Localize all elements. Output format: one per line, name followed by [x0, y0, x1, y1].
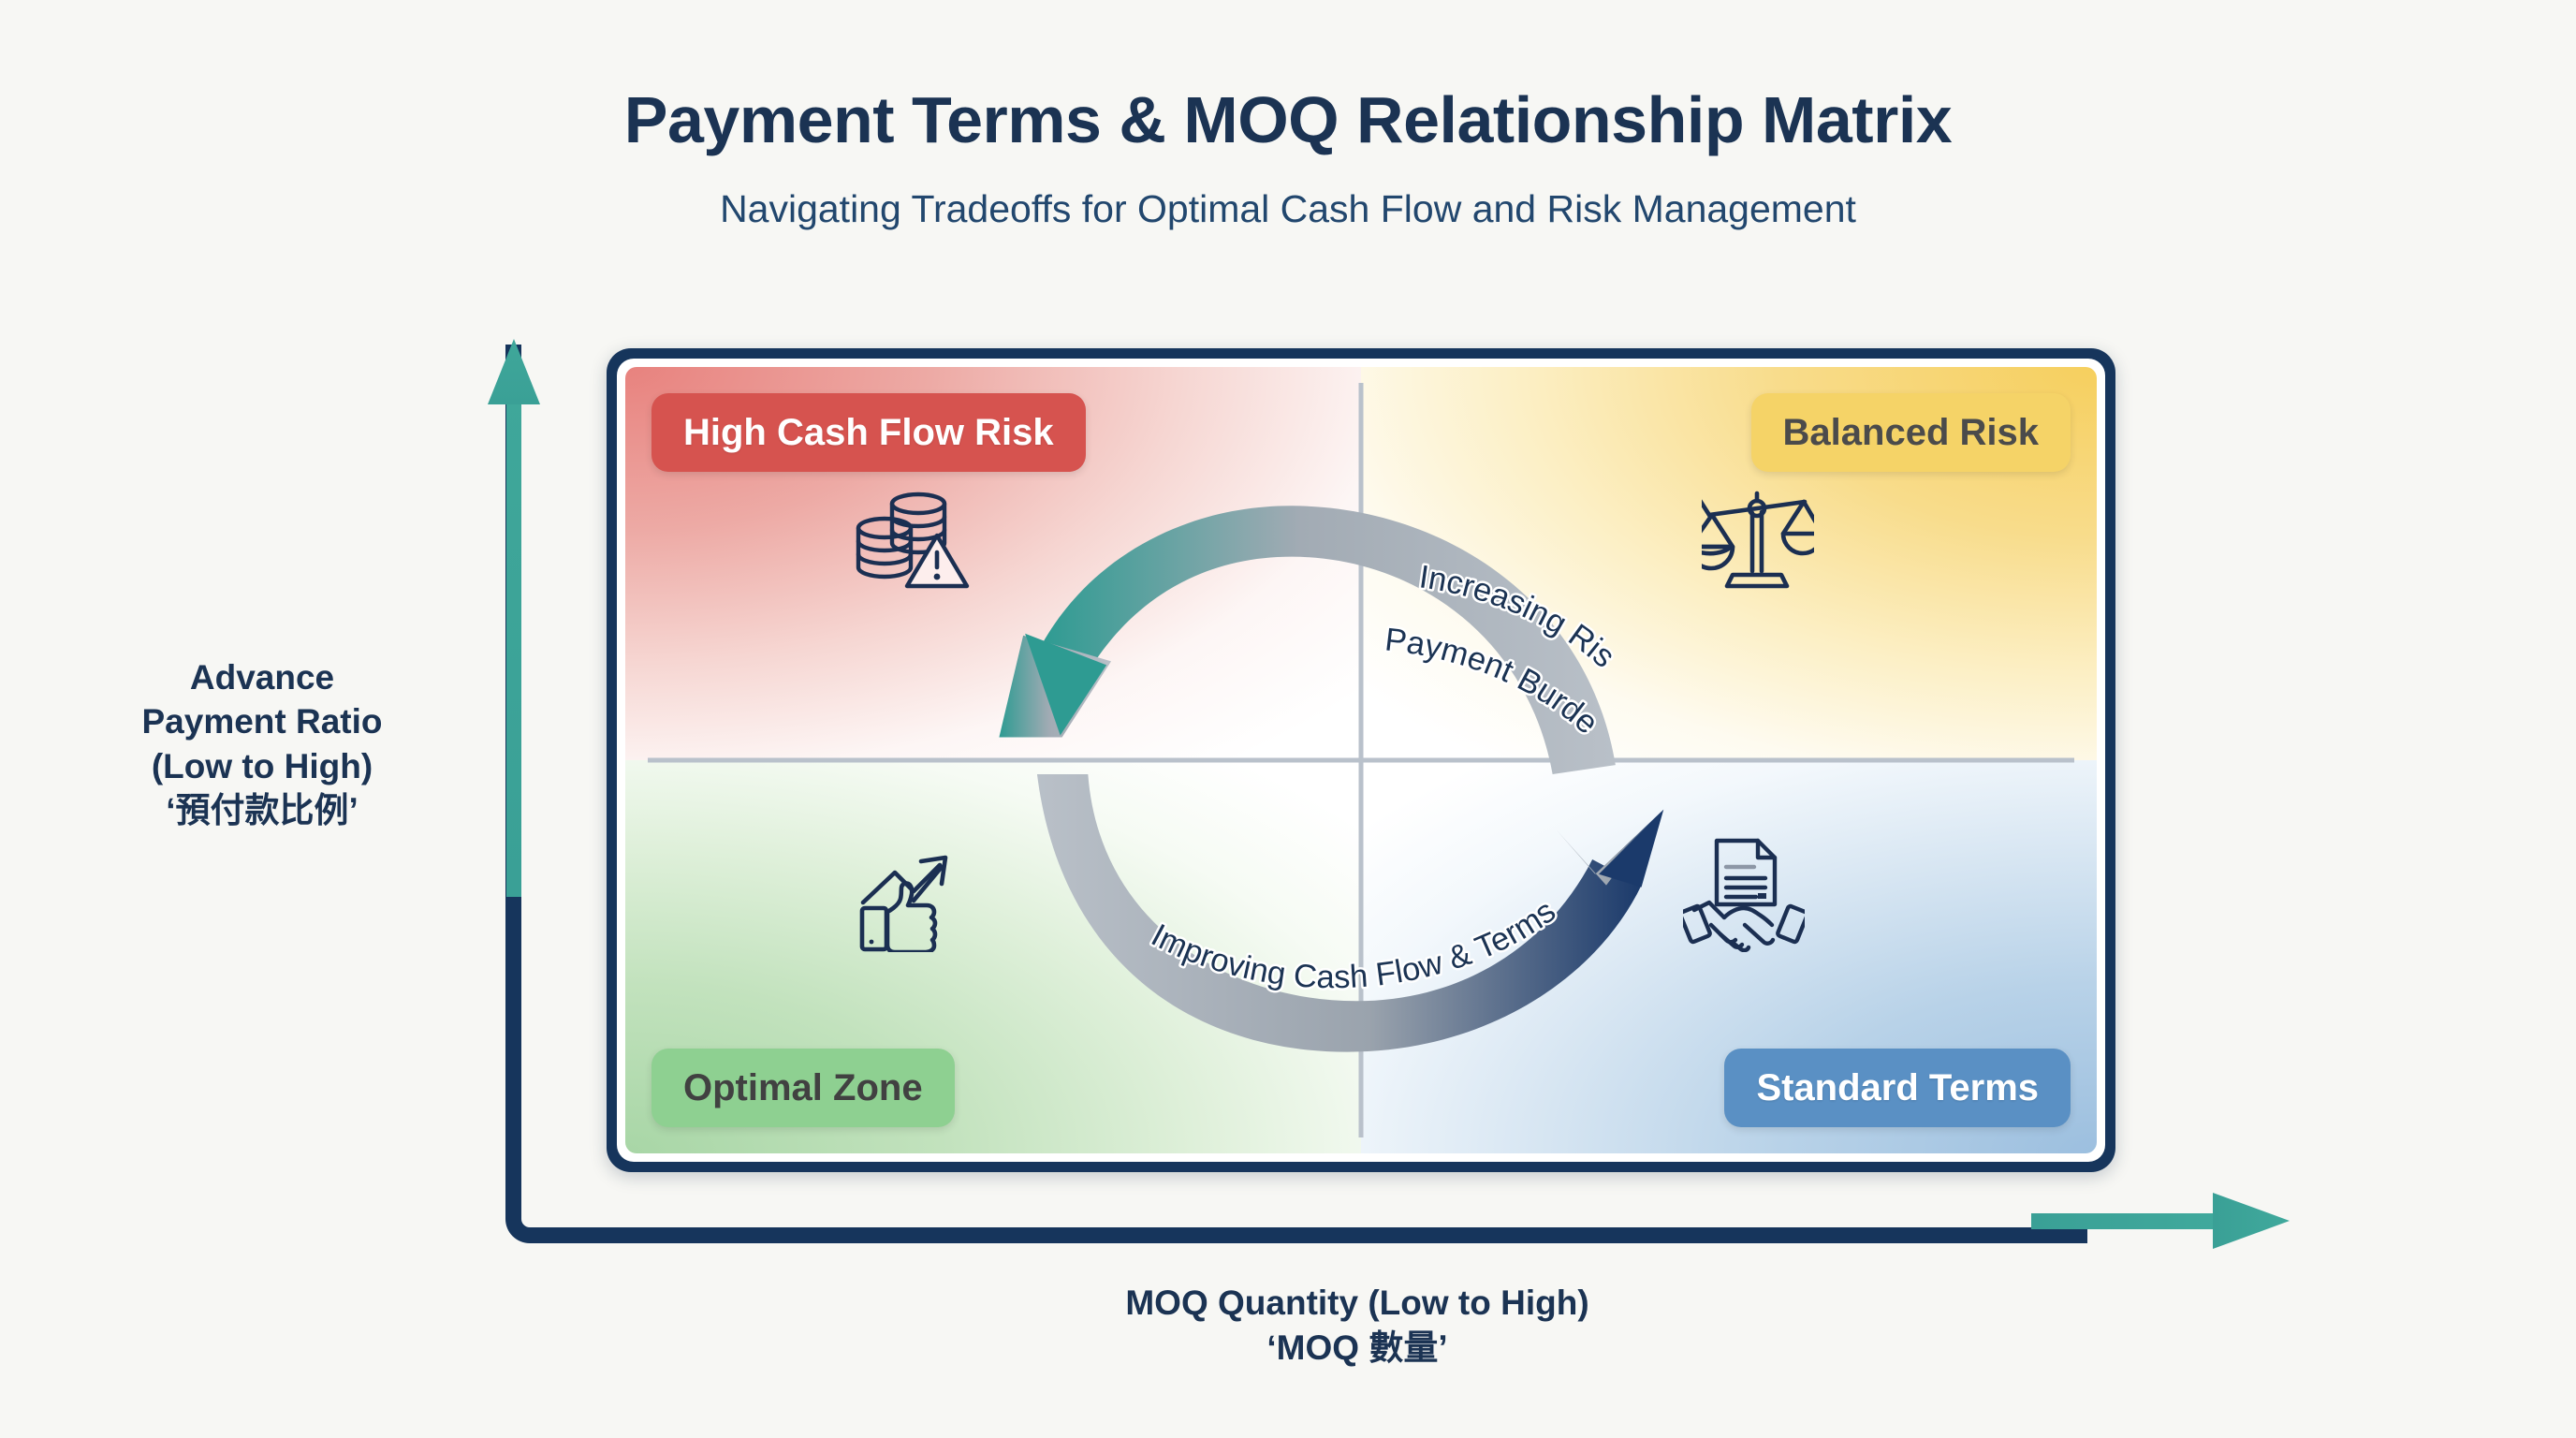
x-axis-label-line-2: ‘MOQ 數量’ — [711, 1326, 2003, 1371]
matrix-plot-area: Increasing Risk & Payment Burden Improvi… — [625, 367, 2097, 1153]
thumbs-up-growth-icon — [859, 844, 972, 952]
y-axis-label-line-2: Payment Ratio — [56, 699, 468, 743]
matrix-frame: Increasing Risk & Payment Burden Improvi… — [607, 348, 2115, 1172]
y-axis-arrow-icon — [486, 335, 542, 897]
quadrant-label-balanced-risk[interactable]: Balanced Risk — [1751, 393, 2071, 472]
horizontal-divider — [648, 758, 2075, 763]
page-subtitle: Navigating Tradeoffs for Optimal Cash Fl… — [0, 187, 2576, 231]
handshake-contract-icon — [1683, 835, 1805, 952]
quadrant-label-standard-terms[interactable]: Standard Terms — [1724, 1049, 2071, 1127]
balance-scale-icon — [1702, 489, 1814, 592]
y-axis-label-line-1: Advance — [56, 655, 468, 699]
y-axis-label-line-4: ‘預付款比例’ — [56, 788, 468, 832]
coins-warning-icon — [850, 487, 972, 590]
matrix-inner-border: Increasing Risk & Payment Burden Improvi… — [617, 359, 2105, 1162]
y-axis-label: Advance Payment Ratio (Low to High) ‘預付款… — [56, 655, 468, 832]
page-title: Payment Terms & MOQ Relationship Matrix — [0, 82, 2576, 157]
infographic-canvas: Payment Terms & MOQ Relationship Matrix … — [0, 0, 2576, 1438]
y-axis-label-line-3: (Low to High) — [56, 744, 468, 788]
quadrant-label-high-cash-flow-risk[interactable]: High Cash Flow Risk — [651, 393, 1086, 472]
x-axis-label-line-1: MOQ Quantity (Low to High) — [711, 1281, 2003, 1326]
quadrant-label-optimal-zone[interactable]: Optimal Zone — [651, 1049, 955, 1127]
x-axis-arrow-icon — [2031, 1187, 2293, 1255]
x-axis-label: MOQ Quantity (Low to High) ‘MOQ 數量’ — [711, 1281, 2003, 1371]
